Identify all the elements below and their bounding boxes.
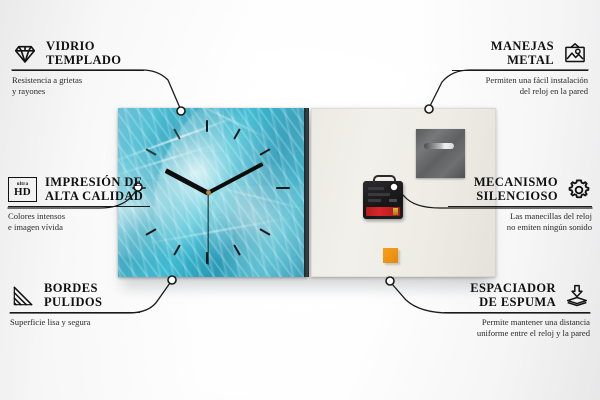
foam-spacer-pad — [383, 248, 398, 263]
product-photo — [118, 108, 484, 280]
ultra-hd-icon-main: HD — [14, 187, 31, 198]
callout-hd-print: ultra HD IMPRESIÓN DE ALTA CALIDAD Color… — [8, 176, 150, 233]
glass-edge — [304, 108, 309, 277]
callout-description: Colores intensos e imagen vívida — [8, 211, 150, 233]
callout-silent-mechanism: MECANISMO SILENCIOSO Las manecillas del … — [448, 176, 592, 233]
second-hand — [207, 193, 208, 265]
hour-tick — [259, 148, 270, 156]
hour-tick — [173, 128, 181, 139]
hour-tick — [259, 228, 270, 236]
callout-header: ESPACIADOR DE ESPUMA — [444, 282, 590, 309]
hour-tick — [276, 187, 290, 189]
polished-edge-icon — [10, 283, 36, 309]
callout-header: BORDES PULIDOS — [10, 282, 140, 309]
callout-foam-spacer: ESPACIADOR DE ESPUMA Permite mantener un… — [444, 282, 590, 339]
callout-title: IMPRESIÓN DE ALTA CALIDAD — [45, 176, 143, 203]
clock-movement — [363, 181, 403, 219]
callout-title: ESPACIADOR DE ESPUMA — [470, 282, 556, 309]
ultra-hd-icon: ultra HD — [8, 177, 37, 202]
arrow-onto-layers-icon — [564, 283, 590, 309]
callout-header: ultra HD IMPRESIÓN DE ALTA CALIDAD — [8, 176, 150, 203]
minute-hand — [207, 162, 264, 195]
callout-title: BORDES PULIDOS — [44, 282, 102, 309]
movement-handle — [373, 175, 396, 185]
hour-tick — [173, 244, 181, 255]
callout-tempered-glass: VIDRIO TEMPLADO Resistencia a grietas y … — [12, 40, 144, 97]
hour-tick — [206, 120, 208, 132]
callout-header: MANEJAS METAL — [452, 40, 588, 67]
metal-hanger-plate — [416, 129, 465, 178]
hour-tick — [145, 148, 156, 156]
callout-description: Superficie lisa y segura — [10, 317, 140, 328]
callout-description: Permite mantener una distancia uniforme … — [444, 317, 590, 339]
diamond-icon — [12, 41, 38, 67]
callout-header: VIDRIO TEMPLADO — [12, 40, 144, 67]
callout-rule — [444, 312, 590, 313]
picture-frame-icon — [562, 41, 588, 67]
callout-title: MECANISMO SILENCIOSO — [474, 176, 558, 203]
callout-rule — [10, 312, 140, 313]
infographic-canvas: VIDRIO TEMPLADO Resistencia a grietas y … — [0, 0, 600, 400]
hanger-slot — [424, 143, 454, 149]
hour-tick — [233, 128, 241, 139]
hands-hub — [206, 190, 211, 195]
callout-rule — [452, 70, 588, 71]
callout-title: VIDRIO TEMPLADO — [46, 40, 121, 67]
callout-rule — [8, 206, 150, 207]
callout-header: MECANISMO SILENCIOSO — [448, 176, 592, 203]
callout-rule — [12, 70, 144, 71]
hour-tick — [233, 244, 241, 255]
callout-metal-handles: MANEJAS METAL Permiten una fácil instala… — [452, 40, 588, 97]
gear-icon — [566, 177, 592, 203]
callout-description: Las manecillas del reloj no emiten ningú… — [448, 211, 592, 233]
callout-polished-edges: BORDES PULIDOS Superficie lisa y segura — [10, 282, 140, 328]
callout-description: Permiten una fácil instalación del reloj… — [452, 75, 588, 97]
battery-label — [366, 207, 400, 216]
callout-description: Resistencia a grietas y rayones — [12, 75, 144, 97]
callout-title: MANEJAS METAL — [491, 40, 554, 67]
hour-hand — [165, 169, 210, 196]
callout-rule — [448, 206, 592, 207]
